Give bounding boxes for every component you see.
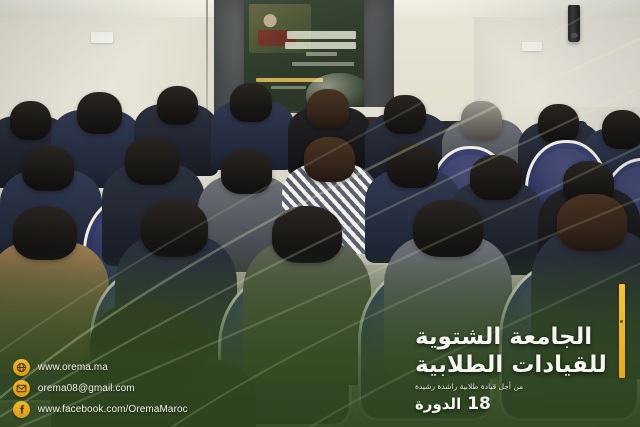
session-number: 18 xyxy=(467,394,491,414)
event-tagline: من أجل قيادة طلابية راشدة رشيدة xyxy=(415,382,523,391)
website-url: www.orema.ma xyxy=(38,362,108,373)
contact-row-email[interactable]: orema08@gmail.com xyxy=(13,380,188,397)
event-title-line-2: للقيادات الطلابية xyxy=(415,352,607,379)
event-title-block: الجامعة الشتوية للقيادات الطلابية من أجل… xyxy=(415,324,607,414)
facebook-url: www.facebook.com/OremaMaroc xyxy=(38,404,188,415)
email-address: orema08@gmail.com xyxy=(38,383,135,394)
globe-icon xyxy=(13,359,30,376)
envelope-icon xyxy=(13,380,30,397)
contact-row-facebook[interactable]: www.facebook.com/OremaMaroc xyxy=(13,401,188,418)
facebook-icon xyxy=(13,401,30,418)
contact-row-website[interactable]: www.orema.ma xyxy=(13,359,188,376)
contact-block: www.orema.ma orema08@gmail.com www.faceb… xyxy=(13,359,188,418)
accent-bar xyxy=(619,284,625,378)
session-row: الدورة 18 xyxy=(415,394,491,414)
session-label: الدورة xyxy=(415,395,461,413)
event-title-line-1: الجامعة الشتوية xyxy=(415,324,592,351)
event-photo: www.orema.ma orema08@gmail.com www.faceb… xyxy=(0,0,640,427)
